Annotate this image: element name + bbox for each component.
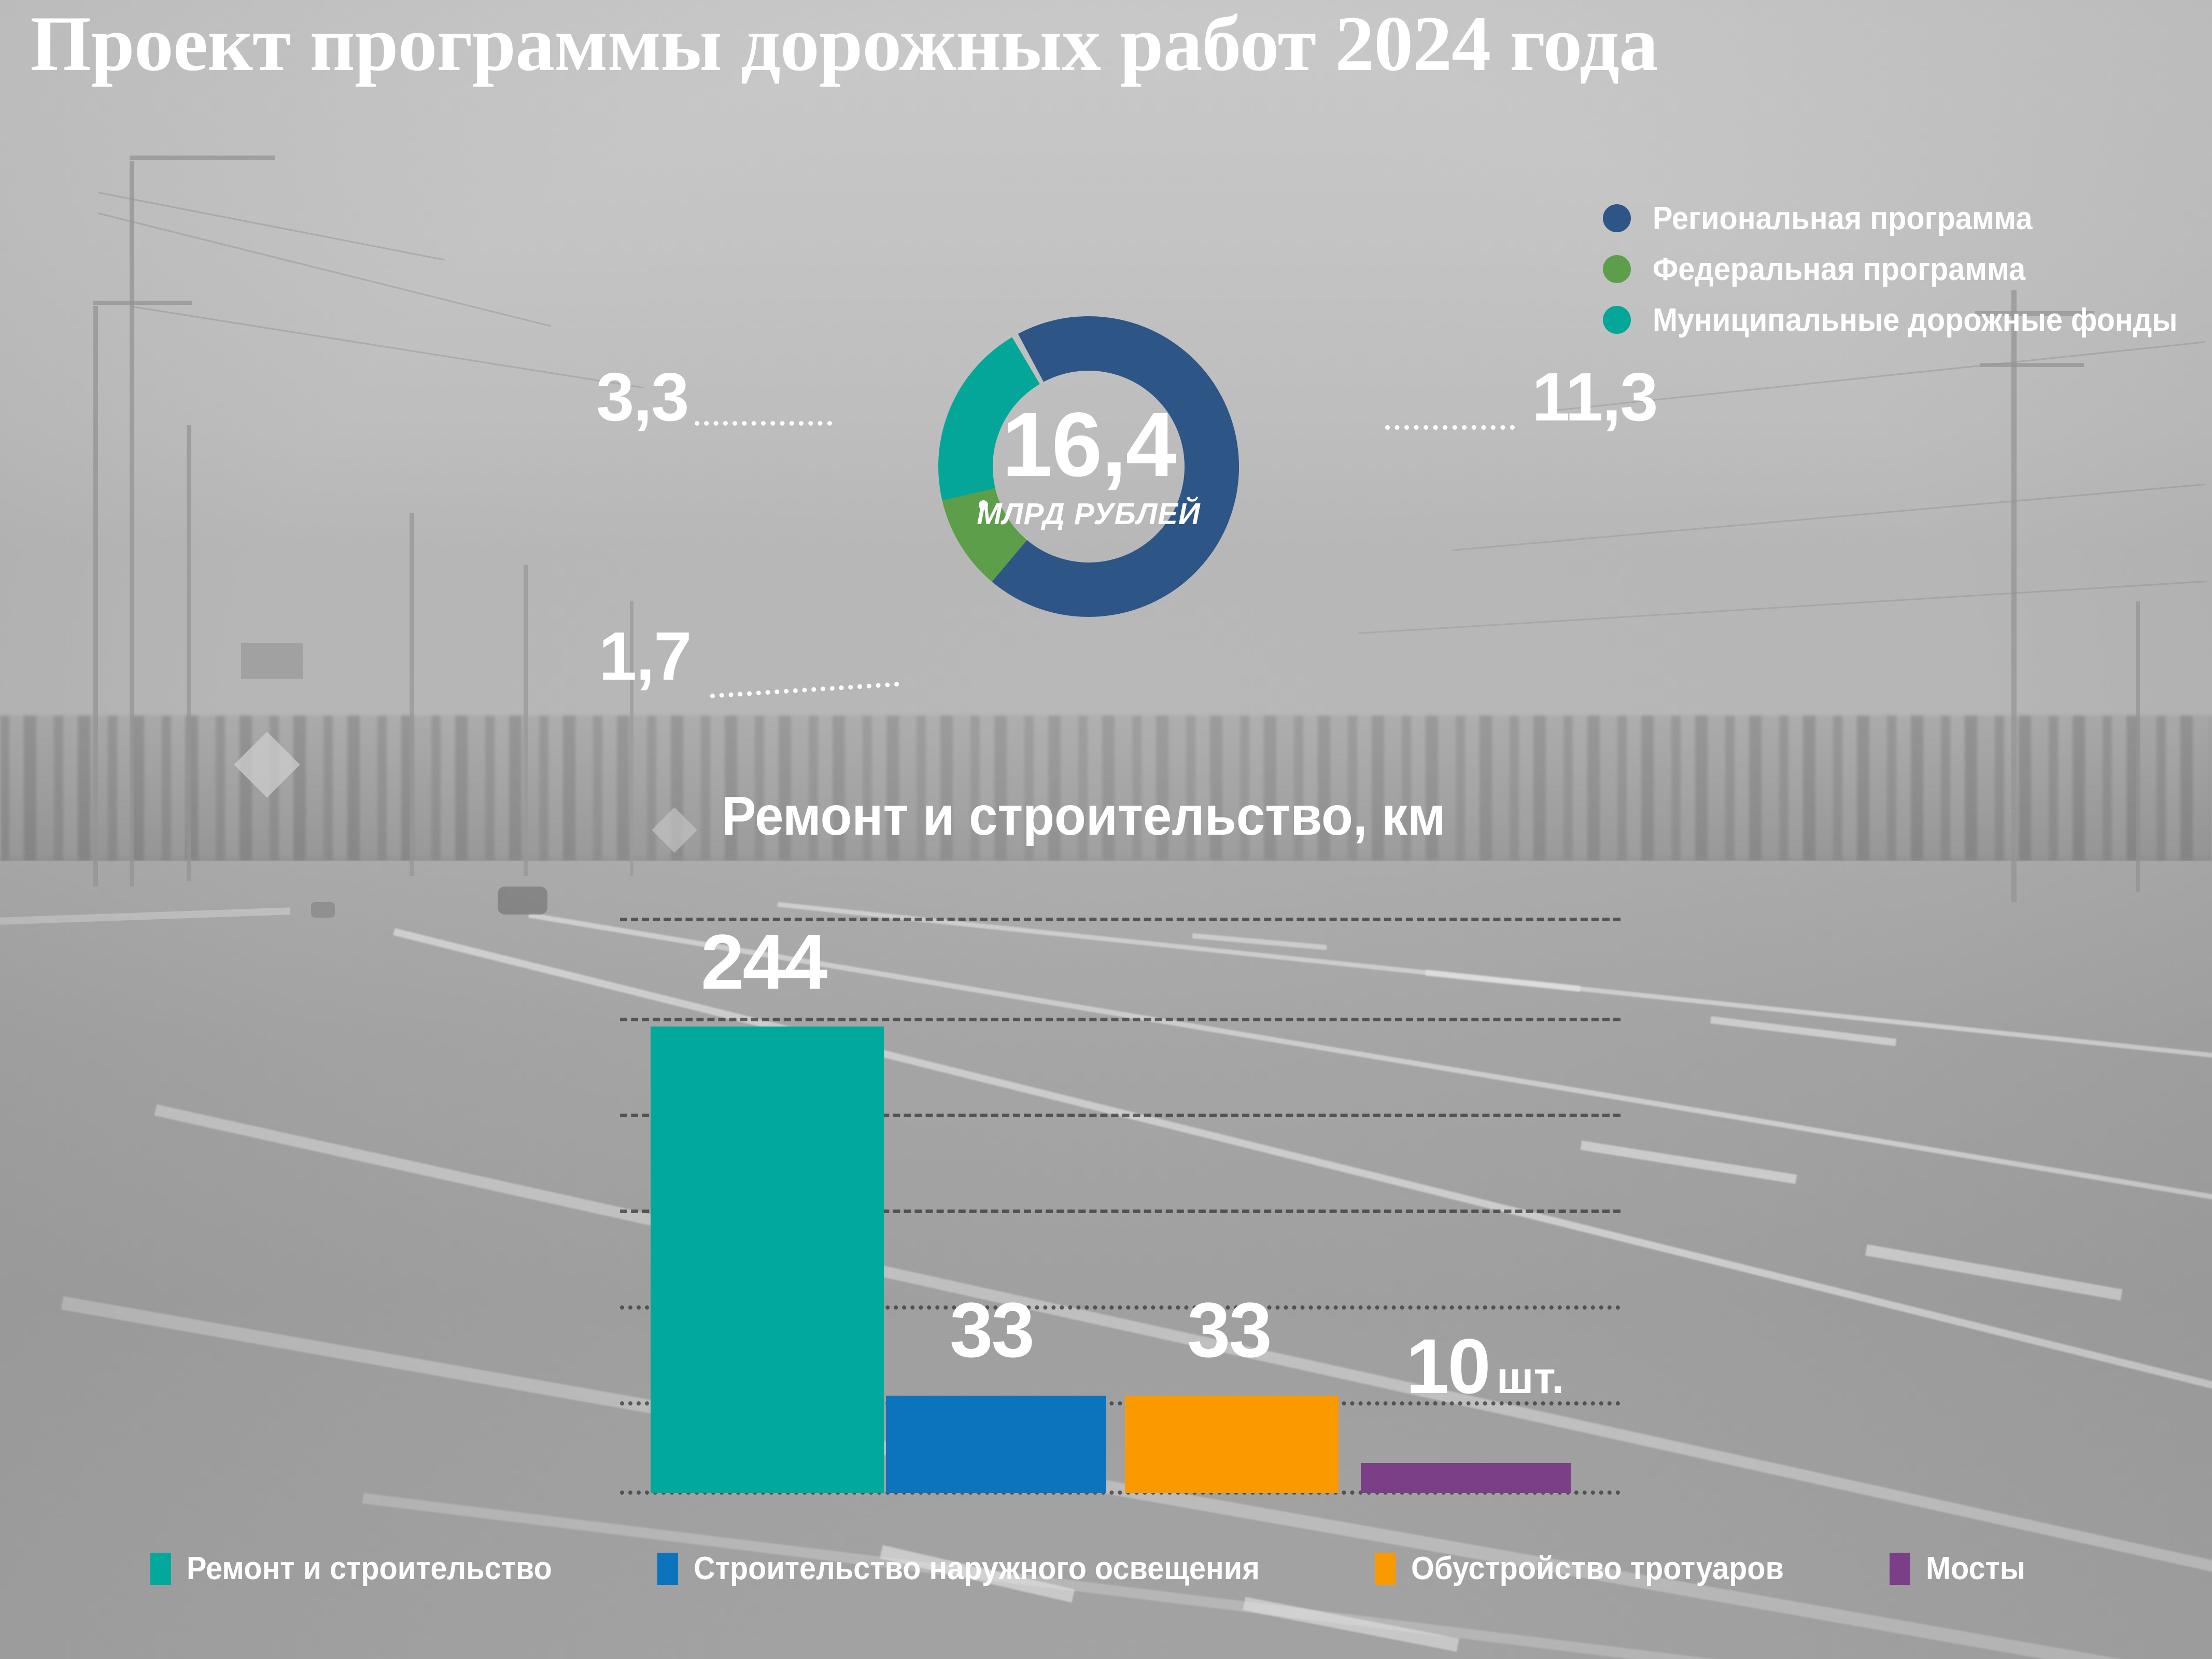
donut-legend-label: Федеральная программа — [1653, 251, 2025, 288]
page-title: Проект программы дорожных работ 2024 год… — [30, 4, 1658, 83]
bar-chart-title: Ремонт и строительство, км — [722, 785, 1446, 848]
bar-value-label-lighting: 33 — [950, 1291, 1033, 1369]
square-swatch-icon — [657, 1553, 678, 1585]
donut-callout-federal: 1,7 — [599, 622, 691, 691]
legend-item-bridges[interactable]: Мосты — [1890, 1550, 2033, 1587]
bar-chart-legend: Ремонт и строительство Строительство нар… — [150, 1550, 2089, 1587]
donut-legend-label: Муниципальные дорожные фонды — [1653, 302, 2178, 339]
bar-value-label-repair: 244 — [701, 923, 826, 1001]
bar-value-label-sidewalks: 33 — [1187, 1291, 1271, 1369]
leader-endpoint-dot — [979, 500, 988, 510]
bar-street-lighting[interactable] — [886, 1396, 1106, 1493]
bar-value-suffix: шт. — [1497, 1353, 1564, 1403]
legend-label: Обустройство тротуаров — [1411, 1550, 1784, 1587]
legend-item-sidewalks[interactable]: Обустройство тротуаров — [1375, 1550, 1812, 1587]
leader-line-municipal — [695, 421, 832, 426]
legend-item-street-lighting[interactable]: Строительство наружного освещения — [657, 1550, 1302, 1587]
bar-value-label-bridges: 10шт. — [1406, 1327, 1564, 1405]
legend-label: Ремонт и строительство — [187, 1550, 552, 1587]
leader-line-regional — [1385, 425, 1515, 430]
donut-total-value: 16,4 — [1002, 402, 1176, 488]
bar-bridges[interactable] — [1361, 1463, 1571, 1493]
bar-repair-construction[interactable] — [651, 1027, 884, 1493]
square-swatch-icon — [1375, 1553, 1396, 1585]
donut-legend-label: Региональная программа — [1653, 200, 2032, 237]
square-swatch-icon — [1890, 1553, 1910, 1585]
donut-callout-regional: 11,3 — [1532, 363, 1657, 431]
donut-legend-item-municipal[interactable]: Муниципальные дорожные фонды — [1603, 294, 2212, 345]
legend-label: Строительство наружного освещения — [694, 1550, 1260, 1587]
bar-sidewalks[interactable] — [1125, 1396, 1339, 1493]
donut-legend-item-regional[interactable]: Региональная программа — [1603, 193, 2212, 244]
square-swatch-icon — [150, 1553, 171, 1585]
legend-label: Мосты — [1926, 1550, 2025, 1587]
circle-marker-icon — [1603, 204, 1631, 232]
donut-chart: 16,4 МЛРД РУБЛЕЙ — [793, 171, 1384, 762]
circle-marker-icon — [1603, 255, 1631, 283]
legend-item-repair-construction[interactable]: Ремонт и строительство — [150, 1550, 580, 1587]
donut-total-unit: МЛРД РУБЛЕЙ — [977, 497, 1200, 531]
donut-callout-municipal: 3,3 — [596, 363, 688, 431]
donut-center-label: 16,4 МЛРД РУБЛЕЙ — [793, 171, 1384, 762]
circle-marker-icon — [1603, 306, 1631, 334]
donut-legend-item-federal[interactable]: Федеральная программа — [1603, 244, 2212, 294]
donut-legend: Региональная программа Федеральная прогр… — [1603, 193, 2212, 345]
